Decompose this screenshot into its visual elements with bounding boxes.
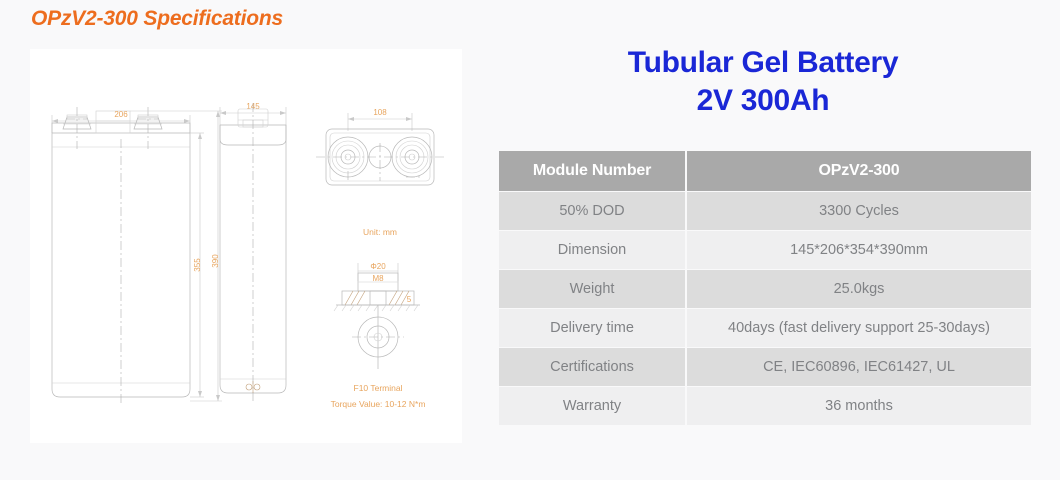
table-row: Weight 25.0kgs — [499, 270, 1031, 308]
product-spec-page: OPzV2-300 Specifications — [0, 0, 1060, 480]
terminal-detail-drawing: Φ20 M8 5 — [331, 262, 426, 409]
row-value-weight: 25.0kgs — [687, 270, 1031, 308]
page-title: OPzV2-300 Specifications — [31, 7, 283, 31]
row-value-warranty: 36 months — [687, 387, 1031, 425]
table-row: Dimension 145*206*354*390mm — [499, 231, 1031, 269]
terminal-height-label: 5 — [407, 295, 412, 304]
row-value-delivery-time: 40days (fast delivery support 25-30days) — [687, 309, 1031, 347]
table-row: Delivery time 40days (fast delivery supp… — [499, 309, 1031, 347]
top-view-spacing-label: 108 — [373, 108, 387, 117]
row-label-delivery-time: Delivery time — [499, 309, 685, 347]
terminal-torque-label: Torque Value: 10-12 N*m — [331, 399, 426, 409]
unit-note: Unit: mm — [363, 227, 397, 237]
terminal-name-label: F10 Terminal — [354, 383, 403, 393]
side-view-drawing: 145 — [220, 102, 286, 401]
battery-technical-drawing: 206 355 390 145 — [30, 49, 462, 443]
row-value-dod: 3300 Cycles — [687, 192, 1031, 230]
front-view-outer-height-label: 390 — [211, 254, 220, 268]
specifications-table: Module Number OPzV2-300 50% DOD 3300 Cyc… — [497, 150, 1033, 426]
row-label-warranty: Warranty — [499, 387, 685, 425]
front-view-width-label: 206 — [114, 110, 128, 119]
row-label-certifications: Certifications — [499, 348, 685, 386]
front-view-drawing: 206 355 390 — [52, 107, 222, 405]
table-row: Certifications CE, IEC60896, IEC61427, U… — [499, 348, 1031, 386]
row-label-weight: Weight — [499, 270, 685, 308]
row-value-dimension: 145*206*354*390mm — [687, 231, 1031, 269]
terminal-diameter-label: Φ20 — [370, 262, 386, 271]
terminal-thread-label: M8 — [372, 274, 384, 283]
row-value-certifications: CE, IEC60896, IEC61427, UL — [687, 348, 1031, 386]
technical-drawing-card: 206 355 390 145 — [30, 49, 462, 443]
front-view-inner-height-label: 355 — [193, 258, 202, 272]
side-view-bottom-detail — [246, 381, 260, 393]
row-label-dod: 50% DOD — [499, 192, 685, 230]
product-heading-line1: Tubular Gel Battery — [628, 46, 898, 79]
table-row: Warranty 36 months — [499, 387, 1031, 425]
table-row: 50% DOD 3300 Cycles — [499, 192, 1031, 230]
product-heading: Tubular Gel Battery 2V 300Ah — [498, 44, 1028, 120]
table-header-row: Module Number OPzV2-300 — [499, 151, 1031, 191]
table-header-module-number: Module Number — [499, 151, 685, 191]
table-header-model: OPzV2-300 — [687, 151, 1031, 191]
product-heading-line2: 2V 300Ah — [498, 82, 1028, 120]
row-label-dimension: Dimension — [499, 231, 685, 269]
top-view-drawing: 108 Un — [316, 108, 444, 237]
